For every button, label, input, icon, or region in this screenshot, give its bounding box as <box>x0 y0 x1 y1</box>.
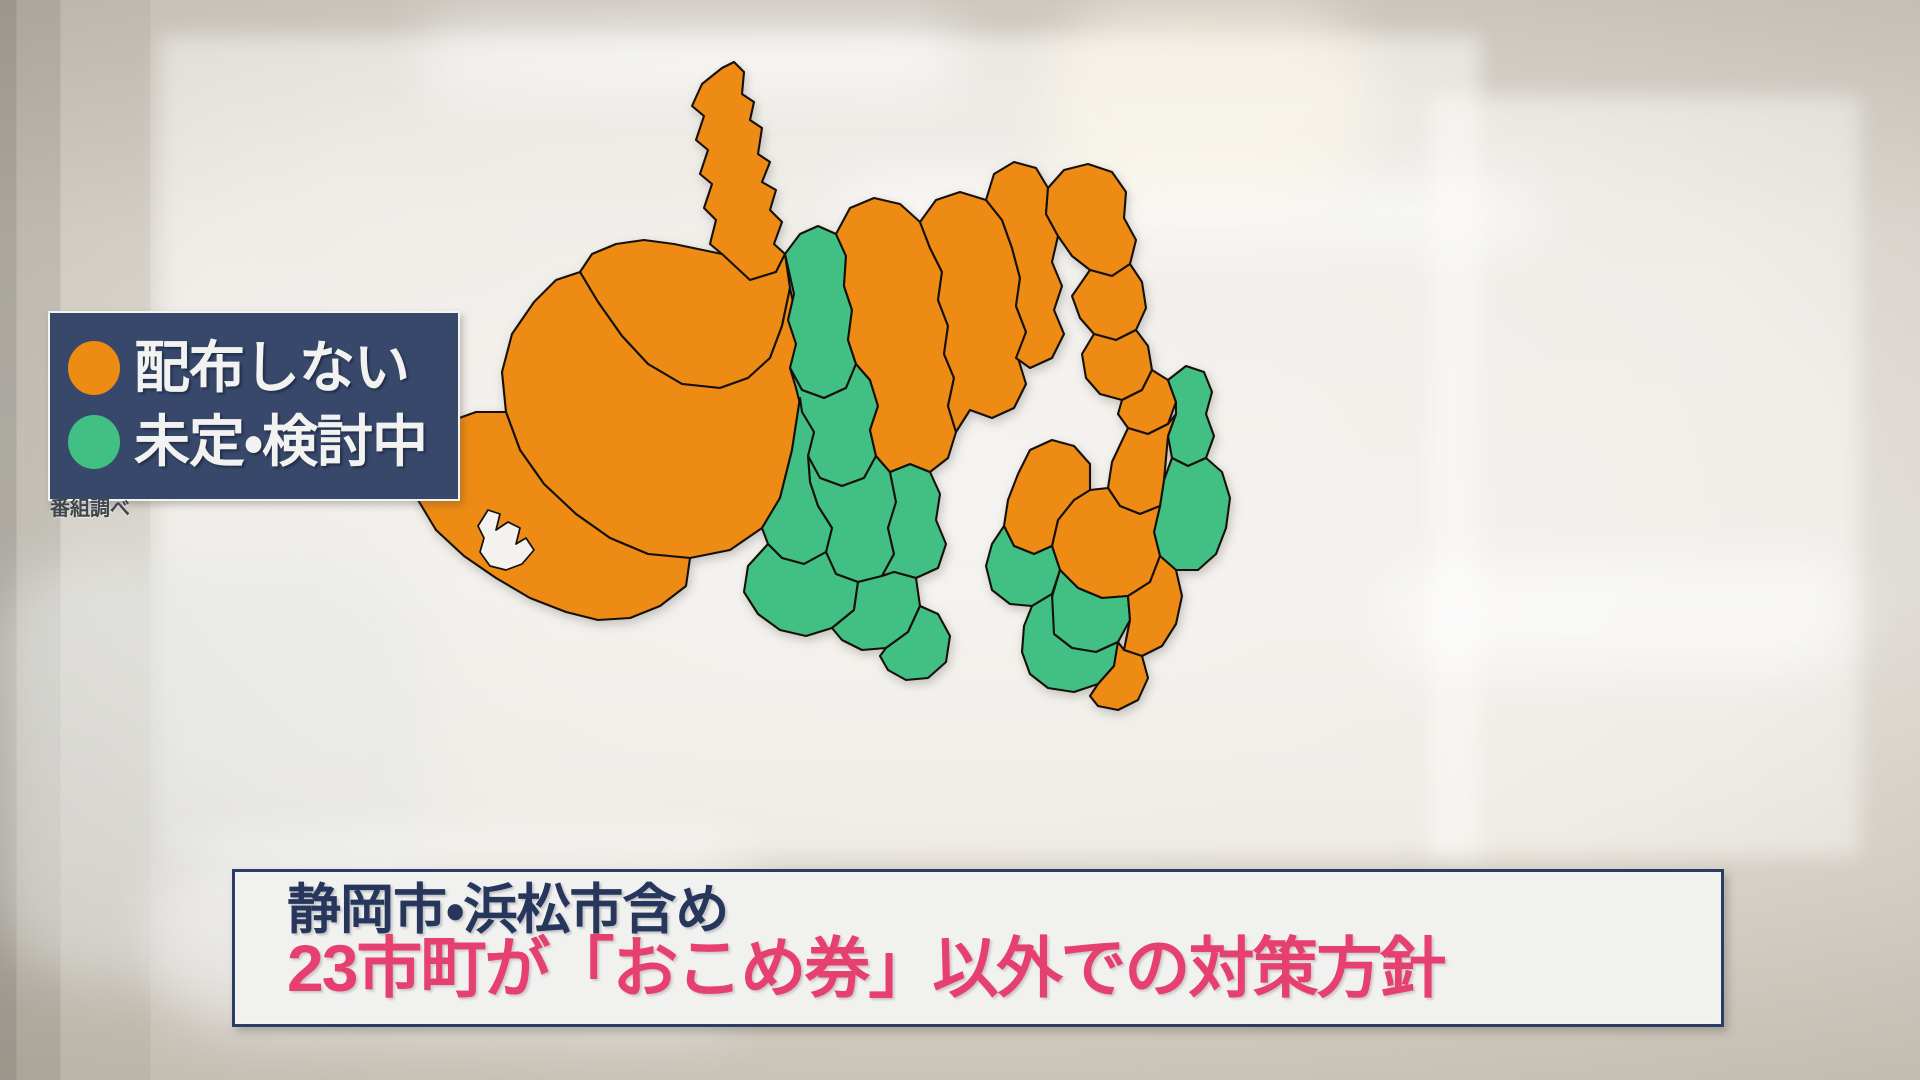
map-legend: 配布しない 未定・検討中 <box>48 311 460 501</box>
lower-third-caption: 静岡市・浜松市含め 23市町が「おこめ券」以外での対策方針 <box>232 869 1724 1027</box>
source-credit: 番組調べ <box>50 492 130 521</box>
legend-label-no-distribution: 配布しない <box>134 340 409 396</box>
backdrop-bar-right <box>1380 560 1860 670</box>
broadcast-graphic-stage: 配布しない 未定・検討中 番組調べ 静岡市・浜松市含め 23市町が「おこめ券」以… <box>0 0 1920 1080</box>
legend-label-undecided: 未定・検討中 <box>134 414 427 470</box>
map-svg <box>330 58 1450 718</box>
orange-dot-icon <box>68 341 120 395</box>
caption-line-1: 静岡市・浜松市含め <box>287 882 1721 938</box>
map-zone-gotemba[interactable] <box>1046 164 1136 276</box>
map-zone-susono[interactable] <box>1072 264 1146 340</box>
legend-item-no-distribution[interactable]: 配布しない <box>68 331 436 405</box>
map-zone-kakegawa[interactable] <box>882 464 946 578</box>
caption-line-2: 23市町が「おこめ券」以外での対策方針 <box>287 934 1721 1003</box>
green-dot-icon <box>68 415 120 469</box>
legend-item-undecided[interactable]: 未定・検討中 <box>68 405 436 479</box>
shizuoka-prefecture-map <box>330 58 1450 718</box>
map-zone-north-spur[interactable] <box>692 62 785 280</box>
